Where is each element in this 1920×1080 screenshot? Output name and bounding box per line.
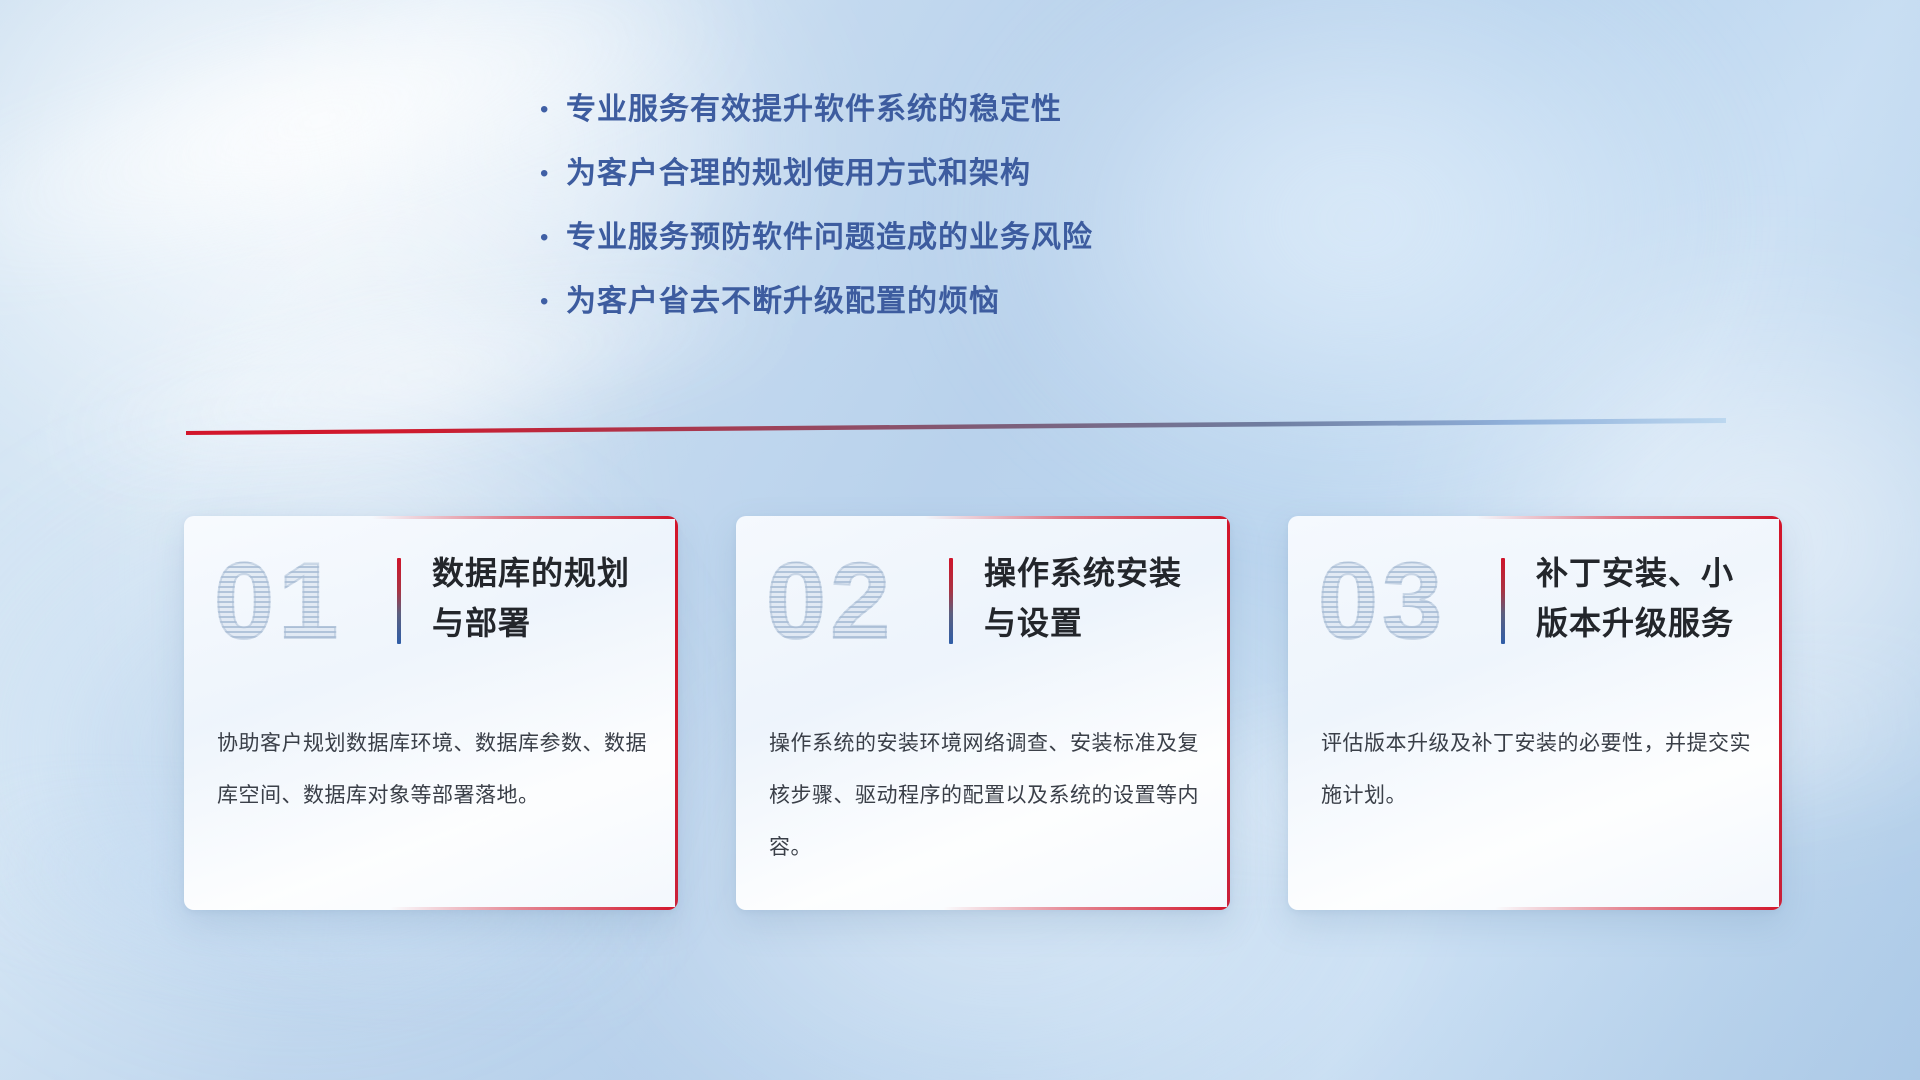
card-header: 02 02 操作系统安装与设置 [736,516,1230,712]
card-title-divider-bar [397,558,401,644]
bullet-text: 为客户合理的规划使用方式和架构 [566,152,1031,196]
service-card[interactable]: 02 02 操作系统安装与设置 操作系统的安装环境网络调查、安装标准及复核步骤、… [736,516,1230,910]
card-body-text: 操作系统的安装环境网络调查、安装标准及复核步骤、驱动程序的配置以及系统的设置等内… [769,718,1201,874]
card-header: 03 03 补丁安装、小版本升级服务 [1288,516,1782,712]
bullet-marker-icon: • [540,152,566,196]
service-card[interactable]: 03 03 补丁安装、小版本升级服务 评估版本升级及补丁安装的必要性，并提交实施… [1288,516,1782,910]
card-number: 02 [766,546,926,656]
section-divider [186,418,1726,436]
service-card-list: 01 01 数据库的规划与部署 协助客户规划数据库环境、数据库参数、数据库空间、… [184,516,1782,910]
bullet-text: 专业服务有效提升软件系统的稳定性 [566,88,1062,132]
benefits-bullet-list: • 专业服务有效提升软件系统的稳定性 • 为客户合理的规划使用方式和架构 • 专… [540,88,1440,344]
bullet-text: 专业服务预防软件问题造成的业务风险 [566,216,1093,260]
card-accent-bottom-edge [1495,907,1782,910]
bullet-marker-icon: • [540,88,566,132]
card-header: 01 01 数据库的规划与部署 [184,516,678,712]
card-body-text: 协助客户规划数据库环境、数据库参数、数据库空间、数据库对象等部署落地。 [217,718,649,822]
card-number: 03 [1318,546,1478,656]
card-body-text: 评估版本升级及补丁安装的必要性，并提交实施计划。 [1321,718,1753,822]
list-item: • 专业服务预防软件问题造成的业务风险 [540,216,1440,280]
card-title-divider-bar [949,558,953,644]
bullet-text: 为客户省去不断升级配置的烦恼 [566,280,1000,324]
card-title: 数据库的规划与部署 [432,548,662,648]
service-card[interactable]: 01 01 数据库的规划与部署 协助客户规划数据库环境、数据库参数、数据库空间、… [184,516,678,910]
card-title: 补丁安装、小版本升级服务 [1536,548,1766,648]
card-number: 01 [214,546,374,656]
card-accent-bottom-edge [391,907,678,910]
list-item: • 专业服务有效提升软件系统的稳定性 [540,88,1440,152]
card-title-divider-bar [1501,558,1505,644]
divider-shape-icon [186,418,1726,436]
slide-root: • 专业服务有效提升软件系统的稳定性 • 为客户合理的规划使用方式和架构 • 专… [0,0,1920,1080]
list-item: • 为客户省去不断升级配置的烦恼 [540,280,1440,344]
card-accent-bottom-edge [943,907,1230,910]
bullet-marker-icon: • [540,216,566,260]
list-item: • 为客户合理的规划使用方式和架构 [540,152,1440,216]
card-title: 操作系统安装与设置 [984,548,1214,648]
bullet-marker-icon: • [540,280,566,324]
